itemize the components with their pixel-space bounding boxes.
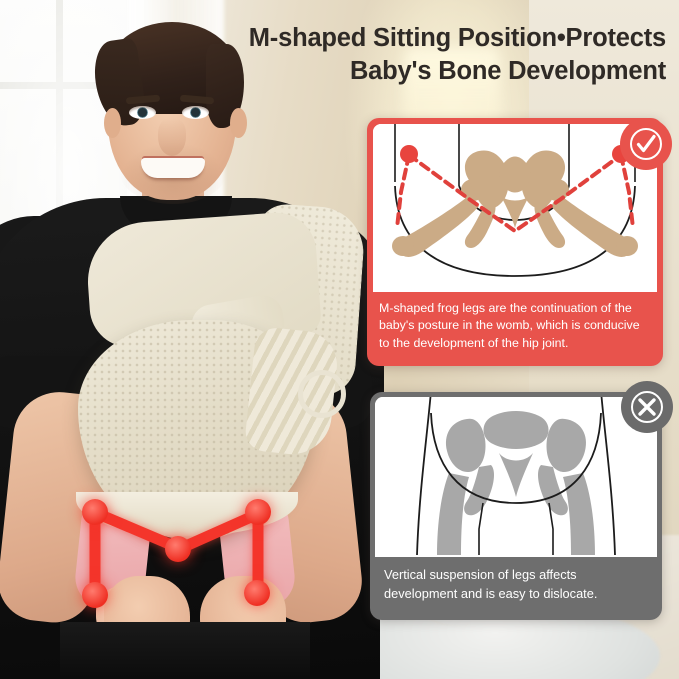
check-icon (620, 118, 672, 170)
panel-incorrect-posture: Vertical suspension of legs affects deve… (370, 392, 662, 620)
panel-correct-posture: M-shaped frog legs are the continuation … (367, 118, 663, 366)
caption-correct: M-shaped frog legs are the continuation … (367, 292, 663, 366)
overlay-point-left-foot (82, 582, 108, 608)
page-title-line-2: Baby's Bone Development (240, 55, 666, 88)
overlay-node-left (400, 145, 418, 163)
product-infographic: M-shaped Sitting Position•Protects Baby'… (0, 0, 679, 679)
page-title: M-shaped Sitting Position•Protects Baby'… (240, 22, 666, 88)
vertical-leg-bone-diagram-svg (375, 397, 657, 557)
overlay-point-right-knee (245, 499, 271, 525)
overlay-point-center-hip (165, 536, 191, 562)
overlay-point-right-foot (244, 580, 270, 606)
caption-incorrect: Vertical suspension of legs affects deve… (370, 558, 662, 620)
m-shape-bone-diagram-svg (373, 124, 657, 292)
diagram-m-shaped-legs (373, 124, 657, 292)
overlay-point-left-knee (82, 499, 108, 525)
diagram-vertical-legs (375, 397, 657, 557)
page-title-line-1: M-shaped Sitting Position•Protects (240, 22, 666, 55)
x-icon (621, 381, 673, 433)
